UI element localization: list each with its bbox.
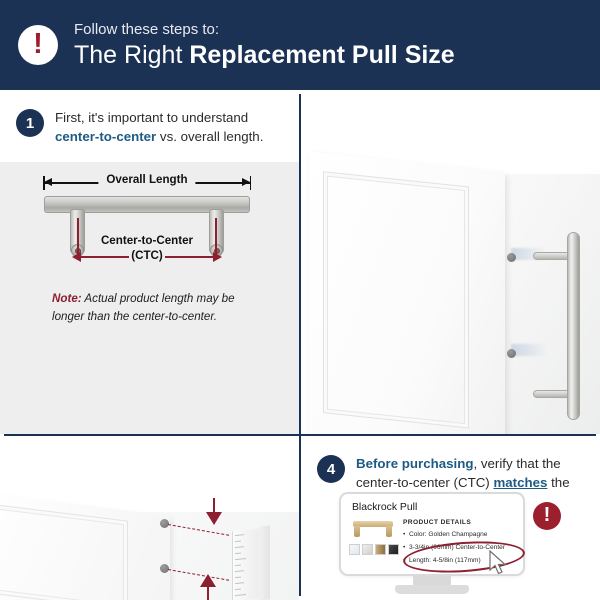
step-4-illustration: Blackrock Pull P bbox=[301, 436, 600, 600]
product-thumbnail[interactable] bbox=[388, 544, 399, 555]
ctc-tick-left bbox=[77, 218, 79, 256]
cabinet-door bbox=[0, 492, 170, 600]
step-1-text-part2: vs. overall length. bbox=[156, 129, 263, 144]
ctc-arrow-right bbox=[213, 252, 222, 262]
page-title-light: The Right bbox=[74, 41, 189, 69]
pull-post-bottom bbox=[533, 390, 571, 398]
monitor-stand-base bbox=[395, 585, 469, 594]
step-3-cell: 3 Measure the distance between the cente… bbox=[0, 436, 299, 600]
ctc-dimension: Center-to-Center (CTC) bbox=[44, 234, 250, 274]
page-header: ! Follow these steps to: The Right Repla… bbox=[0, 0, 600, 90]
header-kicker: Follow these steps to: bbox=[74, 20, 455, 39]
step-1-note: Note: Actual product length may be longe… bbox=[52, 290, 262, 326]
dimension-arrow-left bbox=[44, 178, 52, 186]
bar-pull bbox=[527, 232, 593, 420]
overall-length-label: Overall Length bbox=[98, 173, 195, 186]
infographic-page: ! Follow these steps to: The Right Repla… bbox=[0, 0, 600, 600]
exclamation-glyph: ! bbox=[544, 505, 551, 525]
header-text-block: Follow these steps to: The Right Replace… bbox=[74, 20, 455, 70]
ctc-line-right bbox=[165, 256, 217, 258]
exclamation-circle-icon: ! bbox=[533, 502, 561, 530]
overall-length-dimension: Overall Length bbox=[38, 176, 256, 190]
note-label: Note: bbox=[52, 292, 82, 305]
door-inset-panel bbox=[323, 171, 469, 428]
product-thumbnail[interactable] bbox=[375, 544, 386, 555]
exclamation-circle-icon: ! bbox=[18, 25, 58, 65]
screw-hole-top bbox=[507, 253, 516, 262]
step-1-cell: 1 First, it's important to understand ce… bbox=[0, 90, 299, 434]
step-2-illustration bbox=[301, 90, 600, 434]
door-inset-panel bbox=[0, 503, 128, 600]
exclamation-glyph: ! bbox=[33, 30, 43, 59]
screw-hole-bottom bbox=[507, 349, 516, 358]
product-title: Blackrock Pull bbox=[352, 502, 417, 513]
product-thumbnail[interactable] bbox=[349, 544, 360, 555]
product-page-card: Blackrock Pull P bbox=[339, 492, 525, 576]
ctc-tick-right bbox=[215, 218, 217, 256]
product-thumbnail-row[interactable] bbox=[349, 544, 399, 555]
page-title: The Right Replacement Pull Size bbox=[74, 41, 455, 70]
step-1-diagram: Overall Length Cent bbox=[0, 162, 299, 434]
step-1-header: 1 First, it's important to understand ce… bbox=[0, 90, 299, 146]
monitor-stand-neck bbox=[413, 576, 451, 585]
product-pull-leg-right bbox=[386, 526, 392, 537]
measure-arrow-up-icon bbox=[200, 574, 216, 587]
steps-grid: 1 First, it's important to understand ce… bbox=[0, 90, 600, 600]
product-image bbox=[351, 518, 395, 540]
ctc-line-left bbox=[77, 256, 129, 258]
pull-post-top bbox=[533, 252, 571, 260]
measure-arrow-down-icon bbox=[206, 512, 222, 525]
product-thumbnail[interactable] bbox=[362, 544, 373, 555]
page-title-bold: Replacement Pull Size bbox=[189, 41, 454, 69]
step-3-illustration bbox=[0, 436, 299, 600]
cabinet-door bbox=[309, 152, 505, 434]
step-2-cell: 2 If you are replacing a pull, start by … bbox=[301, 90, 600, 434]
product-detail-color: Color: Golden Champagne bbox=[403, 530, 515, 539]
measure-arrow-stem-bottom bbox=[207, 586, 209, 600]
ctc-label: Center-to-Center bbox=[44, 234, 250, 247]
ruler-edge bbox=[258, 525, 270, 600]
cabinet-wall bbox=[361, 174, 600, 434]
step-1-text: First, it's important to understand cent… bbox=[55, 108, 285, 146]
product-details-heading: PRODUCT DETAILS bbox=[403, 519, 515, 526]
product-pull-leg-left bbox=[354, 526, 360, 537]
mouse-pointer-icon bbox=[489, 550, 511, 576]
dimension-arrow-right bbox=[242, 178, 250, 186]
step-4-cell: 4 Before purchasing, verify that the cen… bbox=[301, 436, 600, 600]
step-1-text-part1: First, it's important to understand bbox=[55, 110, 248, 125]
ruler bbox=[232, 529, 259, 600]
computer-monitor: Blackrock Pull P bbox=[339, 492, 525, 590]
step-1-highlight: center-to-center bbox=[55, 129, 156, 144]
step-1-number: 1 bbox=[16, 109, 44, 137]
pull-bar bbox=[567, 232, 580, 420]
